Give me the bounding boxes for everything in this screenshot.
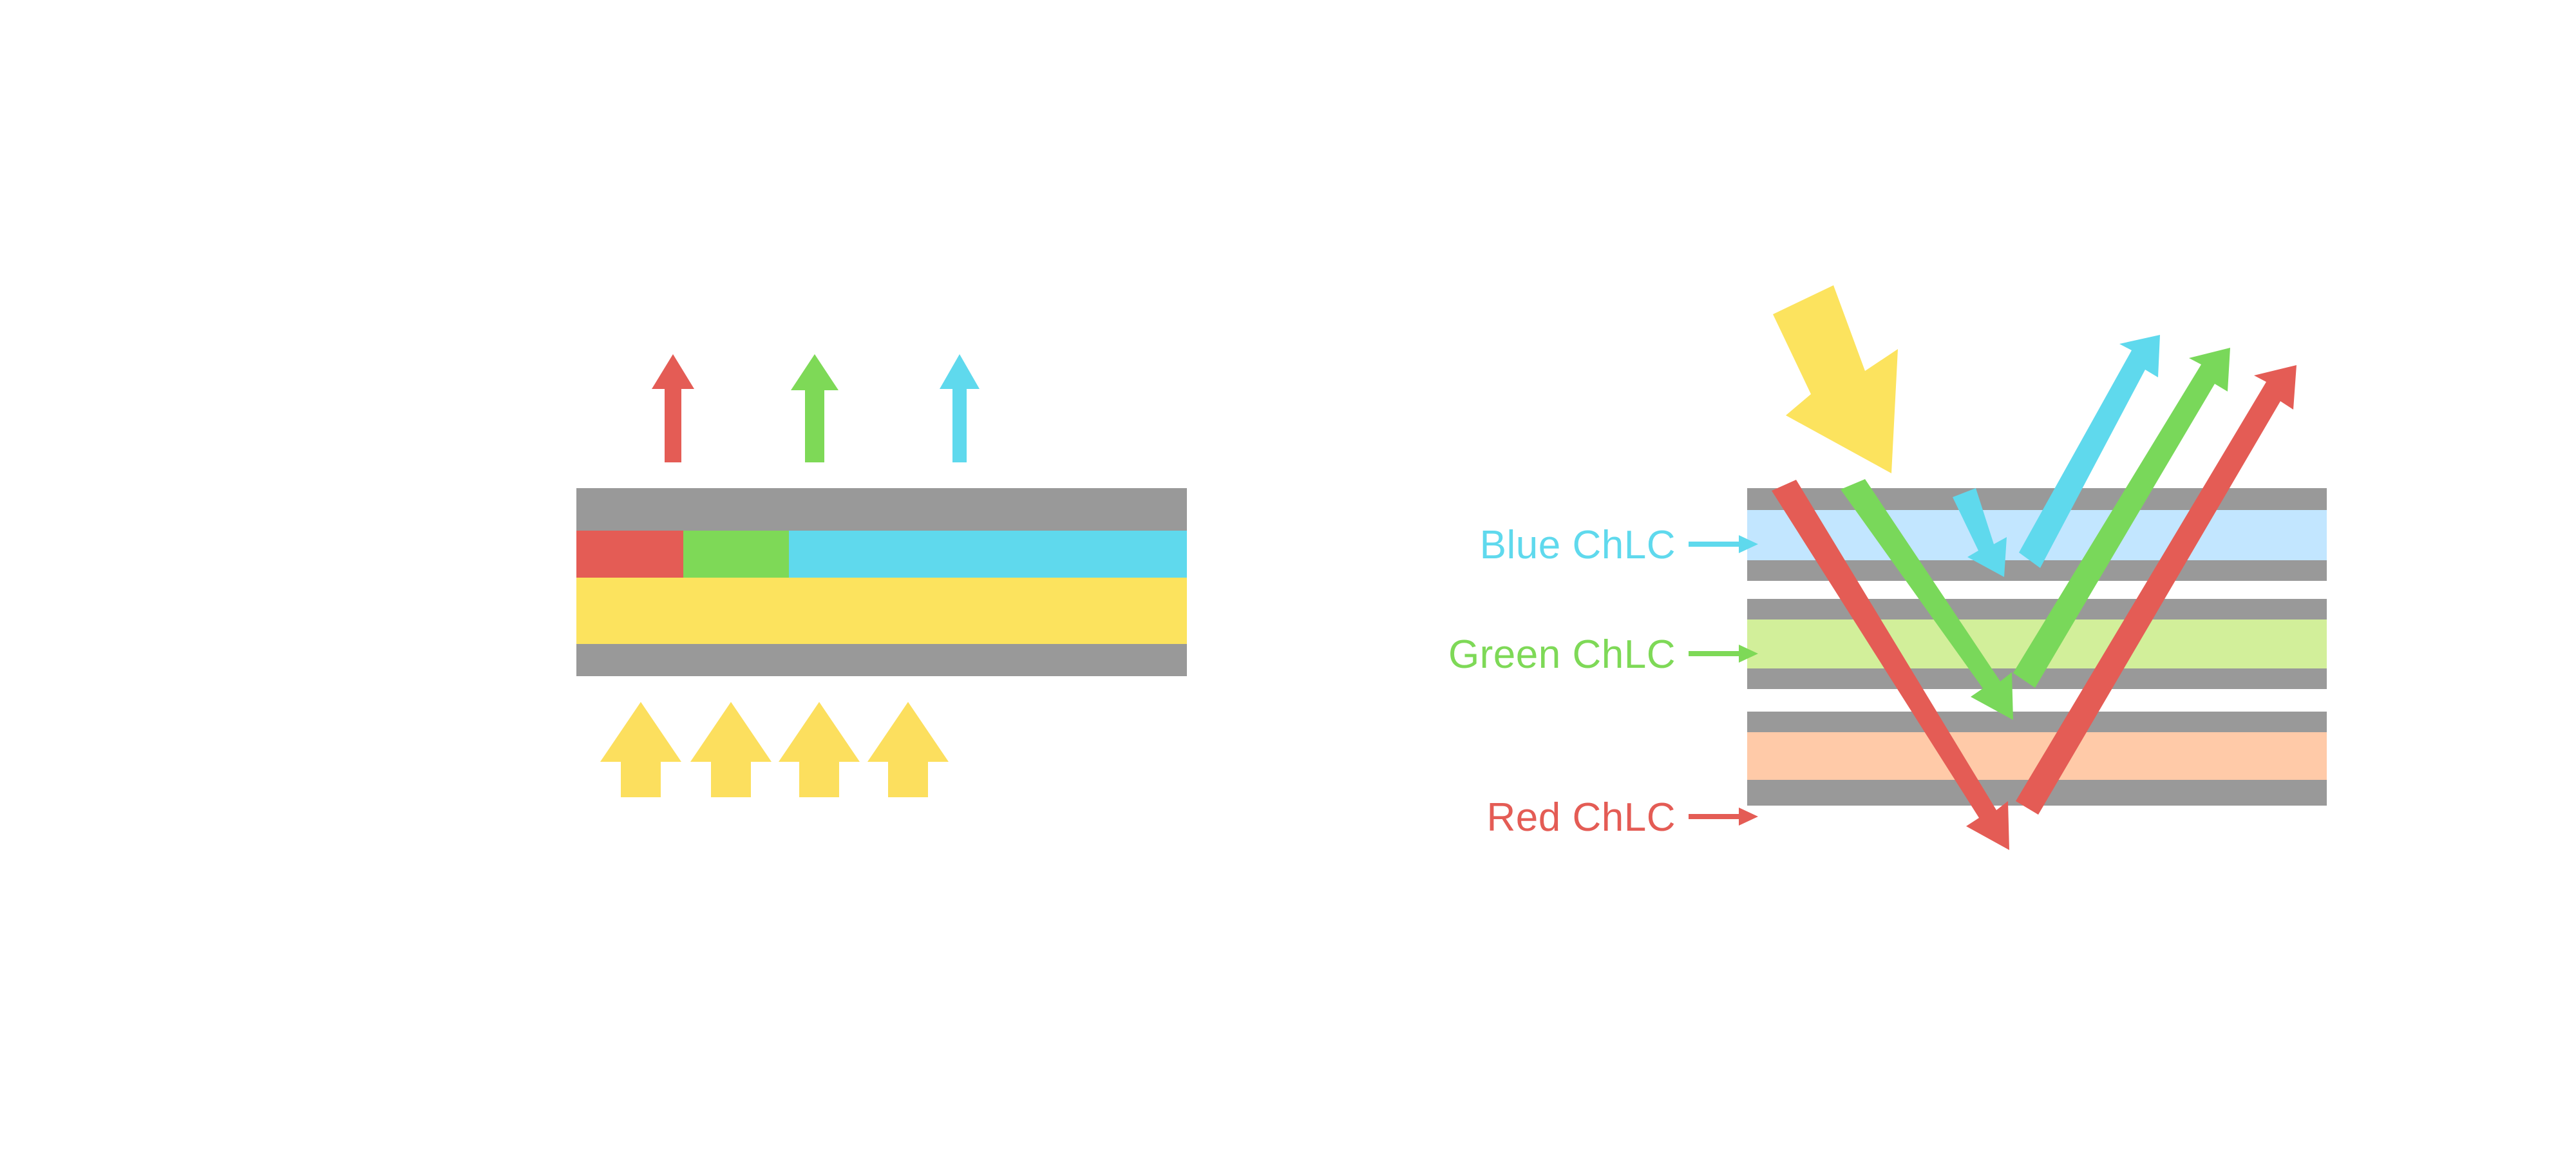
red-cell-top-electrode <box>1747 712 2327 732</box>
blue-color-filter <box>789 531 1187 578</box>
blue-chlc-label-text: Blue ChLC <box>1480 523 1676 567</box>
green-cell-top-electrode <box>1747 599 2327 620</box>
diagram-root: Blue ChLC Green ChLC Red ChLC <box>0 0 2576 1154</box>
top-electrode-layer <box>576 488 1187 531</box>
blue-cell-top-electrode <box>1747 488 2327 510</box>
left-stack-layers <box>576 488 1187 676</box>
green-chlc-label-text: Green ChLC <box>1448 632 1676 677</box>
red-color-filter <box>576 531 683 578</box>
diagram-canvas: Blue ChLC Green ChLC Red ChLC <box>0 0 2576 1154</box>
red-chlc-label-text: Red ChLC <box>1487 795 1676 840</box>
green-color-filter <box>683 531 789 578</box>
bottom-electrode-layer <box>576 644 1187 676</box>
yellow-backlight-layer <box>576 578 1187 644</box>
